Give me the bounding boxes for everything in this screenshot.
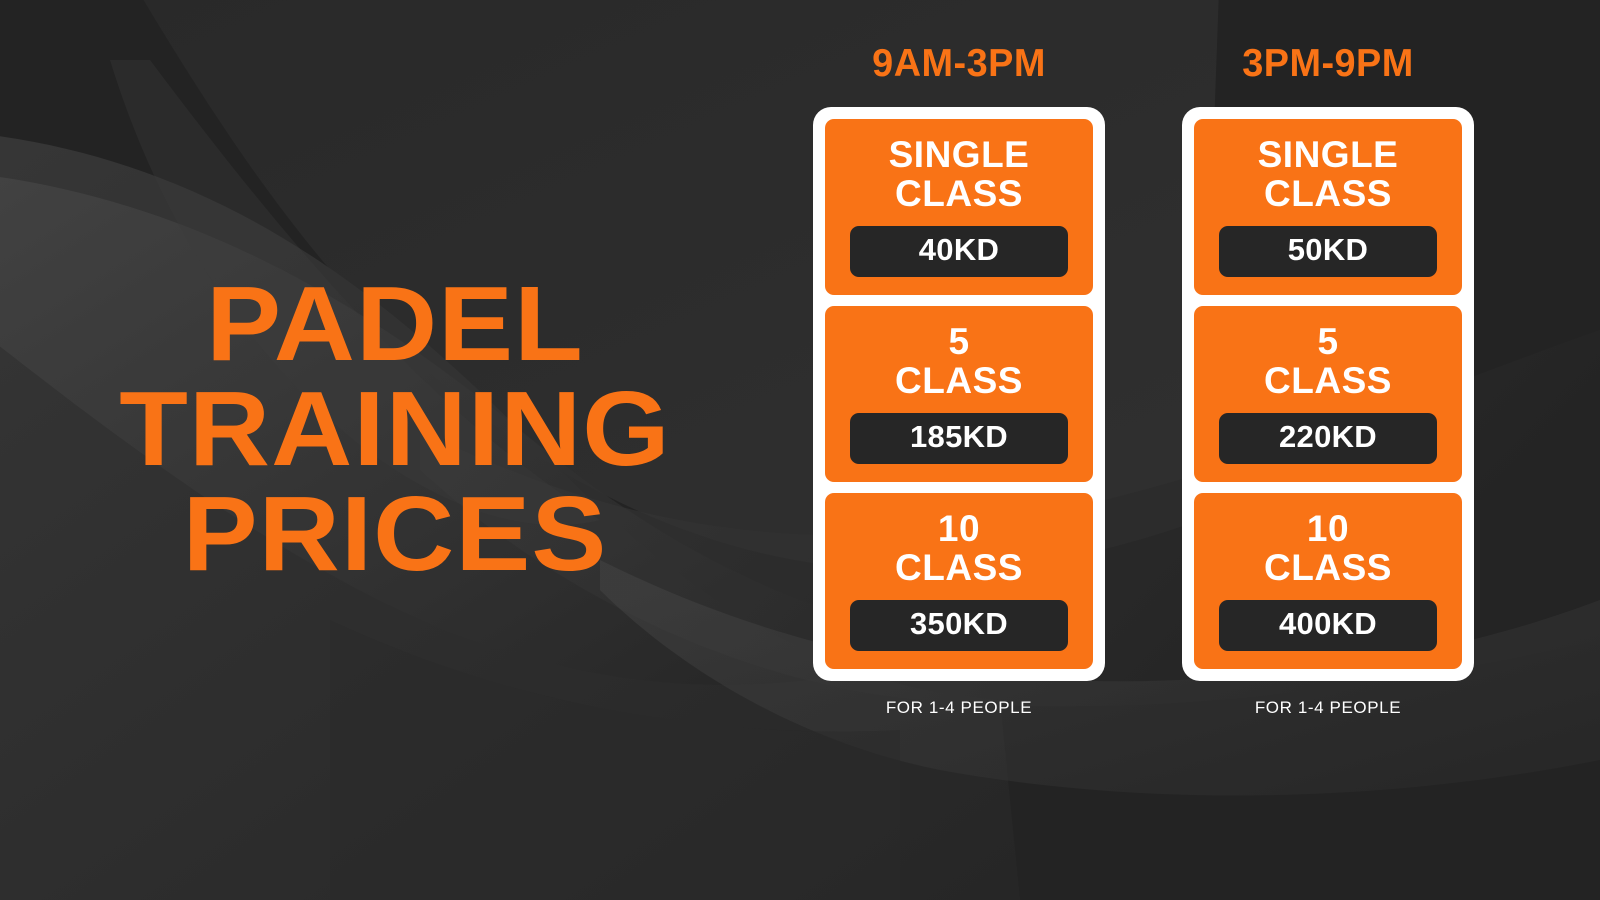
plan-name: 10 CLASS: [841, 509, 1077, 587]
price-value: 400KD: [1279, 606, 1377, 641]
pricing-columns: 9AM-3PM SINGLE CLASS 40KD 5 CLASS 185KD …: [790, 0, 1600, 900]
plan-card[interactable]: 5 CLASS 220KD: [1194, 306, 1462, 482]
card-stack-evening: SINGLE CLASS 50KD 5 CLASS 220KD 10 CLASS…: [1182, 107, 1474, 681]
price-pill: 400KD: [1219, 600, 1437, 651]
price-value: 350KD: [910, 606, 1008, 641]
price-pill: 220KD: [1219, 413, 1437, 464]
plan-card[interactable]: SINGLE CLASS 40KD: [825, 119, 1093, 295]
poster-title: PADEL TRAINING PRICES: [0, 272, 790, 587]
column-footnote-morning: FOR 1-4 PEOPLE: [813, 698, 1105, 718]
pricing-poster: PADEL TRAINING PRICES 9AM-3PM SINGLE CLA…: [0, 0, 1600, 900]
price-pill: 350KD: [850, 600, 1068, 651]
plan-name: SINGLE CLASS: [1210, 135, 1446, 213]
pricing-column-morning: 9AM-3PM SINGLE CLASS 40KD 5 CLASS 185KD …: [813, 44, 1105, 718]
plan-name: SINGLE CLASS: [841, 135, 1077, 213]
title-line-2: TRAINING: [0, 377, 814, 482]
price-value: 185KD: [910, 419, 1008, 454]
column-header-morning: 9AM-3PM: [817, 44, 1100, 83]
price-value: 220KD: [1279, 419, 1377, 454]
plan-card[interactable]: 10 CLASS 400KD: [1194, 493, 1462, 669]
price-value: 50KD: [1288, 232, 1368, 267]
price-pill: 185KD: [850, 413, 1068, 464]
plan-card[interactable]: 10 CLASS 350KD: [825, 493, 1093, 669]
plan-name: 5 CLASS: [841, 322, 1077, 400]
price-value: 40KD: [919, 232, 999, 267]
title-line-1: PADEL: [0, 272, 814, 377]
title-line-3: PRICES: [0, 482, 814, 587]
plan-card[interactable]: SINGLE CLASS 50KD: [1194, 119, 1462, 295]
plan-name: 10 CLASS: [1210, 509, 1446, 587]
column-footnote-evening: FOR 1-4 PEOPLE: [1182, 698, 1474, 718]
card-stack-morning: SINGLE CLASS 40KD 5 CLASS 185KD 10 CLASS…: [813, 107, 1105, 681]
plan-card[interactable]: 5 CLASS 185KD: [825, 306, 1093, 482]
price-pill: 50KD: [1219, 226, 1437, 277]
plan-name: 5 CLASS: [1210, 322, 1446, 400]
pricing-column-evening: 3PM-9PM SINGLE CLASS 50KD 5 CLASS 220KD …: [1182, 44, 1474, 718]
column-header-evening: 3PM-9PM: [1186, 44, 1469, 83]
price-pill: 40KD: [850, 226, 1068, 277]
